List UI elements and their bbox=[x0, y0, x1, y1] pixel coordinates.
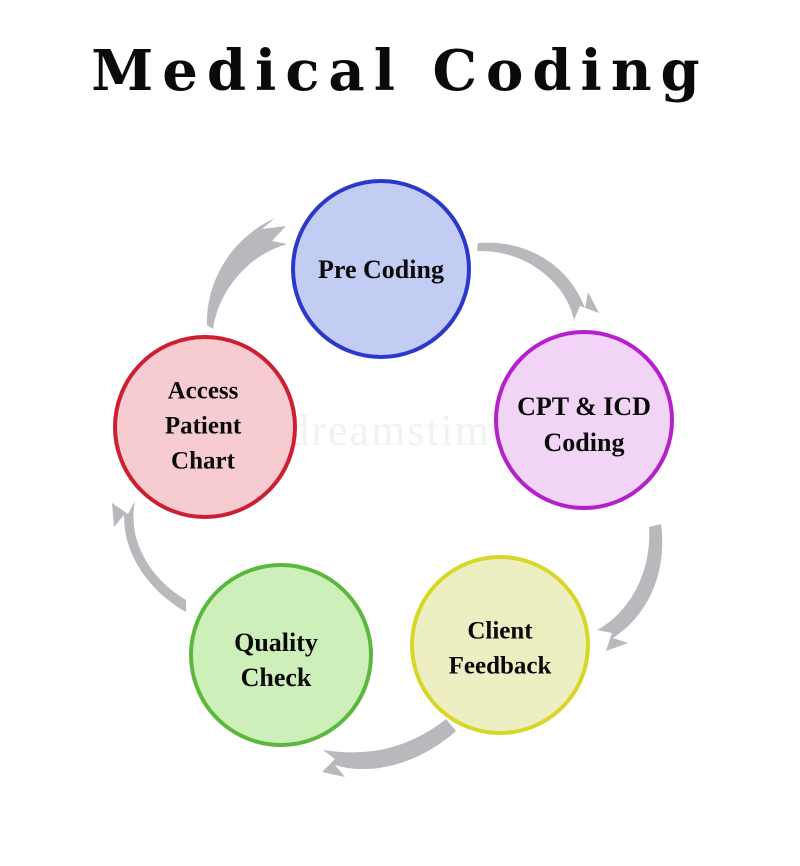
node-client-feedback-label-line-1: Client bbox=[467, 618, 533, 645]
node-access-patient-chart-label-line-2: Patient bbox=[165, 413, 242, 440]
arrow-cpt-icd-to-client-feedback bbox=[597, 524, 662, 651]
node-cpt-icd-coding[interactable]: CPT & ICD Coding bbox=[496, 332, 672, 508]
arrow-quality-check-to-access-patient-chart bbox=[112, 501, 186, 612]
arrow-pre-coding-to-cpt-icd bbox=[477, 243, 599, 320]
node-access-patient-chart-label-line-3: Chart bbox=[171, 448, 236, 475]
node-quality-check-label-line-2: Check bbox=[241, 663, 312, 692]
node-pre-coding-label-line-1: Pre Coding bbox=[318, 255, 444, 284]
node-access-patient-chart[interactable]: Access Patient Chart bbox=[115, 337, 295, 517]
watermark-label: dreamstime bbox=[287, 406, 512, 455]
arrow-client-feedback-to-quality-check bbox=[322, 719, 456, 777]
node-group: Pre Coding CPT & ICD Coding Client Feedb… bbox=[115, 181, 672, 745]
node-cpt-icd-coding-label-line-2: Coding bbox=[544, 428, 625, 457]
node-pre-coding[interactable]: Pre Coding bbox=[293, 181, 469, 357]
watermark: dreamstime bbox=[287, 406, 512, 455]
node-cpt-icd-coding-label-line-1: CPT & ICD bbox=[517, 392, 651, 421]
node-client-feedback-label-line-2: Feedback bbox=[449, 653, 552, 680]
node-quality-check[interactable]: Quality Check bbox=[191, 565, 371, 745]
node-access-patient-chart-label-line-1: Access bbox=[168, 378, 239, 405]
cycle-diagram-canvas: dreamstime Pre Coding bbox=[0, 0, 800, 866]
node-quality-check-label-line-1: Quality bbox=[234, 628, 318, 657]
arrow-access-to-pre-coding bbox=[207, 218, 287, 329]
diagram-root: Medical Coding dreamstime Pre Coding bbox=[0, 0, 800, 866]
node-client-feedback[interactable]: Client Feedback bbox=[412, 557, 588, 733]
node-client-feedback-circle[interactable] bbox=[412, 557, 588, 733]
